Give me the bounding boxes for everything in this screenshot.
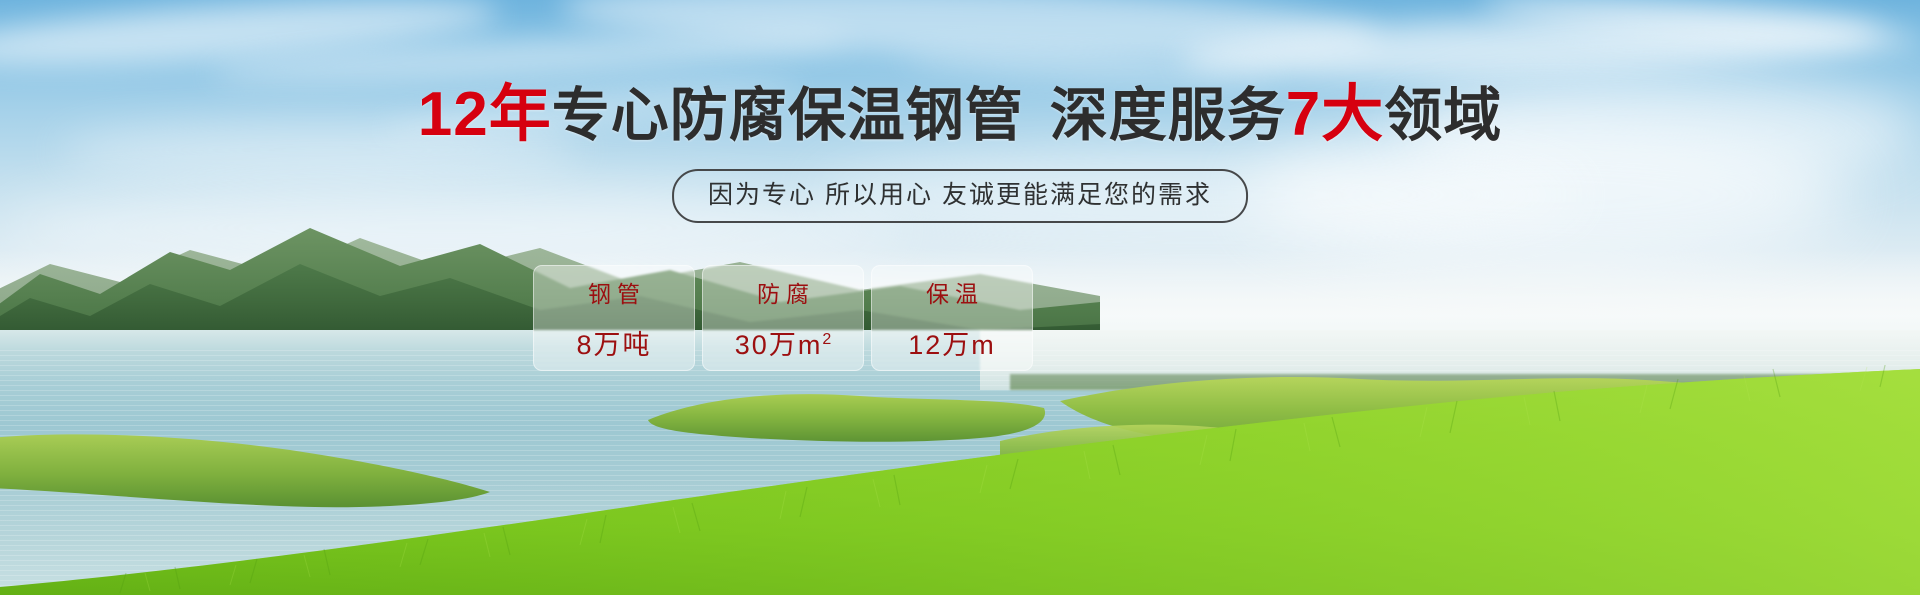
stat-card-anticorrosion[interactable]: 防腐 30万m2 xyxy=(702,265,864,371)
foreground-lawn xyxy=(0,365,1920,595)
subtitle-text: 因为专心 所以用心 友诚更能满足您的需求 xyxy=(708,181,1212,209)
headline-seven: 7大 xyxy=(1286,80,1384,149)
stat-value-text: 30万m xyxy=(735,330,823,360)
subtitle-pill: 因为专心 所以用心 友诚更能满足您的需求 xyxy=(672,169,1248,223)
headline-service: 深度服务 xyxy=(1050,83,1286,148)
stat-value-text: 8万吨 xyxy=(576,330,651,360)
stat-card-label: 防腐 xyxy=(751,275,815,309)
banner-headline: 12年专心防腐保温钢管深度服务7大领域 xyxy=(0,84,1920,147)
headline-fields: 领域 xyxy=(1384,83,1502,148)
stat-card-label: 钢管 xyxy=(582,275,646,309)
stat-card-steel-pipe[interactable]: 钢管 8万吨 xyxy=(533,265,695,371)
stat-card-label: 保温 xyxy=(920,275,984,309)
headline-years: 12年 xyxy=(418,80,552,149)
stat-card-insulation[interactable]: 保温 12万m xyxy=(871,265,1033,371)
stat-value-text: 12万m xyxy=(908,330,996,360)
stat-card-value: 30万m2 xyxy=(735,323,831,362)
stat-card-value: 8万吨 xyxy=(576,323,651,362)
stat-value-superscript: 2 xyxy=(822,331,831,348)
stat-card-group: 钢管 8万吨 防腐 30万m2 保温 12万m xyxy=(533,265,1033,371)
stat-card-value: 12万m xyxy=(908,323,996,362)
headline-focus: 专心防腐保温钢管 xyxy=(552,83,1024,148)
hero-banner: 12年专心防腐保温钢管深度服务7大领域 因为专心 所以用心 友诚更能满足您的需求… xyxy=(0,0,1920,595)
